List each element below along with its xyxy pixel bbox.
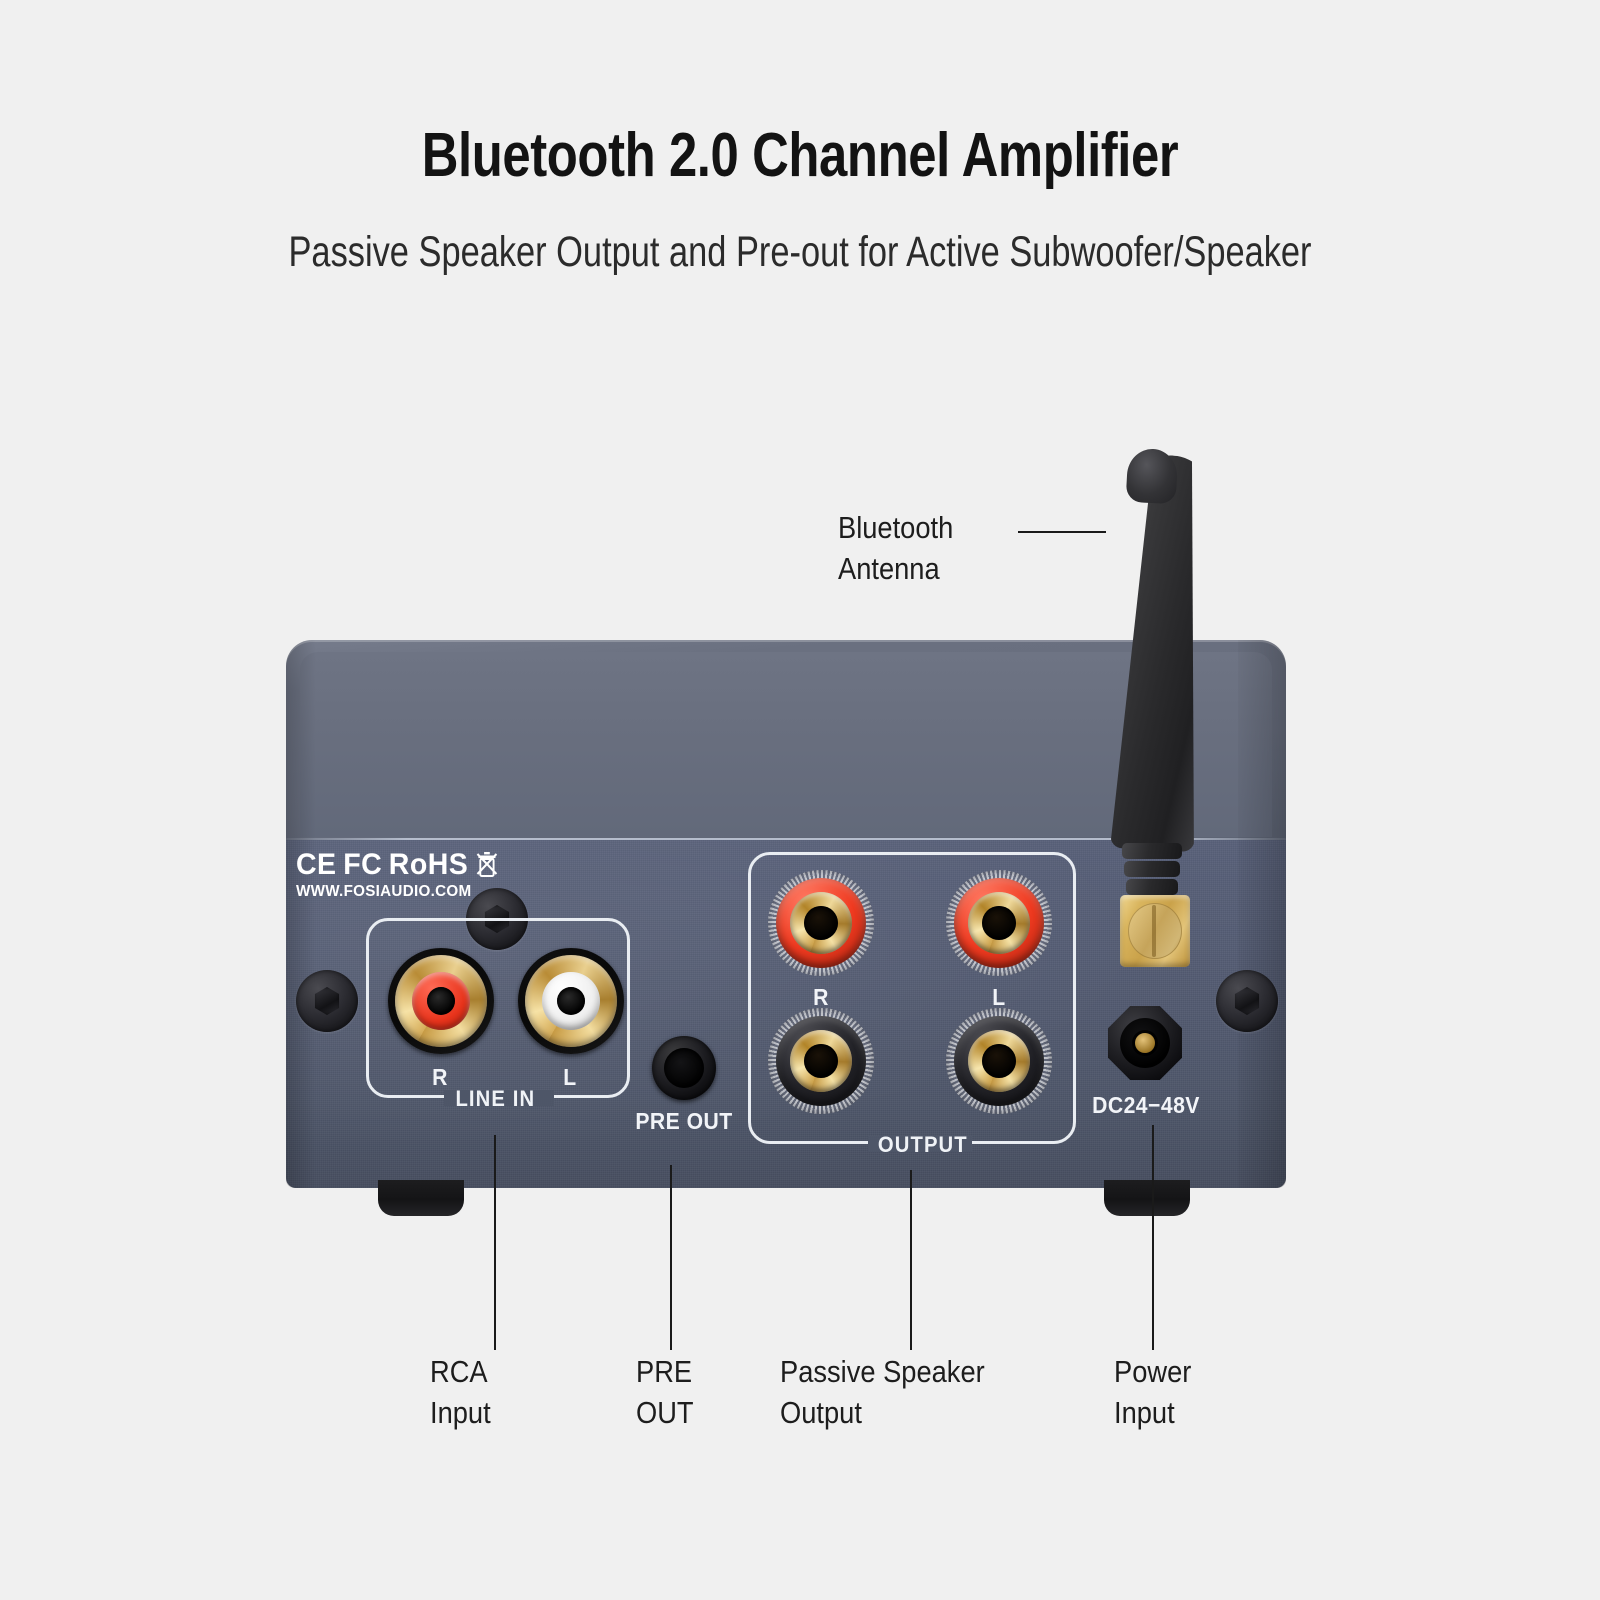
callout-rca-input: RCA Input — [430, 1352, 491, 1434]
rca-jack-right[interactable] — [388, 948, 494, 1054]
callout-passive-speaker-output: Passive Speaker Output — [780, 1352, 985, 1434]
binding-post-left-negative[interactable] — [946, 1008, 1052, 1114]
pre-out-jack[interactable] — [652, 1036, 716, 1100]
dc-power-label: DC24−48V — [1086, 1092, 1206, 1119]
leader-line-power-input — [1152, 1125, 1154, 1350]
hex-screw-right — [1216, 970, 1278, 1032]
binding-post-right-positive[interactable] — [768, 870, 874, 976]
sma-connector-slot — [1152, 905, 1156, 957]
certification-marks: CE FC RoHS WWW.FOSIAUDIO.COM — [296, 848, 556, 901]
antenna-ring-3 — [1126, 879, 1178, 895]
antenna-ring-1 — [1122, 843, 1182, 859]
pre-out-label: PRE OUT — [633, 1108, 734, 1135]
rca-right-label: R — [417, 1064, 463, 1091]
rubber-foot-left — [378, 1180, 464, 1216]
product-diagram: Bluetooth 2.0 Channel Amplifier Passive … — [0, 0, 1600, 1600]
leader-line-antenna — [1018, 531, 1106, 533]
binding-post-left-label: L — [976, 984, 1022, 1011]
hex-screw-left — [296, 970, 358, 1032]
binding-post-right-label: R — [798, 984, 844, 1011]
ce-mark: CE — [296, 848, 337, 882]
binding-post-right-negative[interactable] — [768, 1008, 874, 1114]
fcc-mark: FC — [343, 848, 382, 882]
leader-line-passive-speaker-output — [910, 1170, 912, 1350]
rca-left-label: L — [547, 1064, 593, 1091]
page-title: Bluetooth 2.0 Channel Amplifier — [144, 120, 1456, 191]
leader-line-rca-input — [494, 1135, 496, 1350]
bluetooth-antenna[interactable] — [1100, 455, 1230, 955]
callout-bluetooth-antenna: Bluetooth Antenna — [838, 508, 953, 590]
leader-line-pre-out — [670, 1165, 672, 1350]
antenna-ring-2 — [1124, 861, 1180, 877]
callout-power-input: Power Input — [1114, 1352, 1191, 1434]
rca-jack-left[interactable] — [518, 948, 624, 1054]
binding-post-left-positive[interactable] — [946, 870, 1052, 976]
rubber-foot-right — [1104, 1180, 1190, 1216]
page-subtitle: Passive Speaker Output and Pre-out for A… — [160, 228, 1440, 277]
callout-pre-out: PRE OUT — [636, 1352, 694, 1434]
antenna-rod — [1110, 453, 1215, 852]
rohs-mark: RoHS — [389, 848, 468, 882]
output-group-label: OUTPUT — [878, 1132, 968, 1158]
weee-bin-icon — [475, 850, 500, 880]
line-in-group-label: LINE IN — [455, 1086, 535, 1112]
